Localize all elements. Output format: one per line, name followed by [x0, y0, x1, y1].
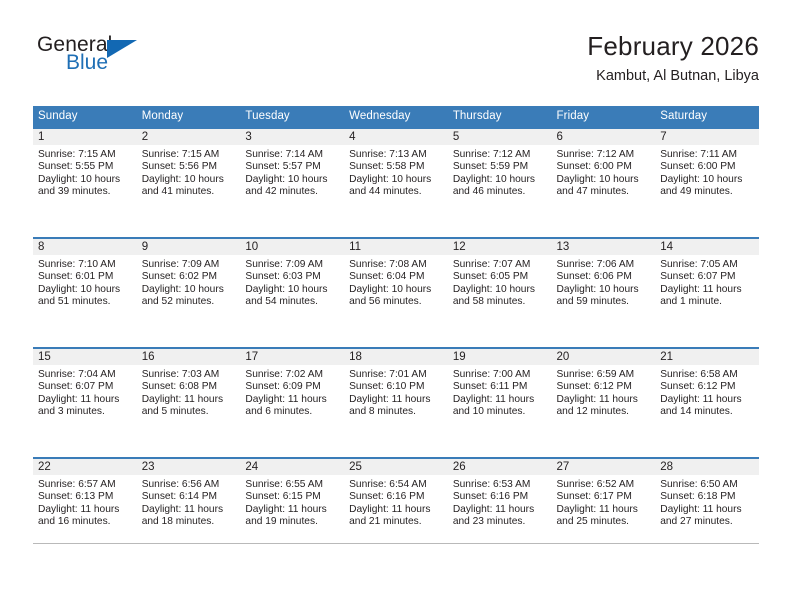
- daylight-text-line2: and 51 minutes.: [38, 296, 131, 308]
- daylight-text-line2: and 49 minutes.: [660, 186, 753, 198]
- day-number: 24: [240, 459, 344, 475]
- daylight-text-line1: Daylight: 11 hours: [453, 394, 546, 406]
- day-details: Sunrise: 7:01 AM Sunset: 6:10 PM Dayligh…: [344, 365, 448, 418]
- calendar-page: General Blue February 2026 Kambut, Al Bu…: [0, 0, 792, 612]
- daylight-text-line2: and 5 minutes.: [142, 406, 235, 418]
- weekday-header-saturday: Saturday: [655, 106, 759, 128]
- sunset-text: Sunset: 6:07 PM: [660, 271, 753, 283]
- sunrise-text: Sunrise: 7:13 AM: [349, 149, 442, 161]
- calendar-week-row: 8 Sunrise: 7:10 AM Sunset: 6:01 PM Dayli…: [33, 238, 759, 348]
- day-number: 11: [344, 239, 448, 255]
- calendar-week-row: 22 Sunrise: 6:57 AM Sunset: 6:13 PM Dayl…: [33, 458, 759, 567]
- day-cell[interactable]: 18 Sunrise: 7:01 AM Sunset: 6:10 PM Dayl…: [344, 348, 448, 458]
- daylight-text-line1: Daylight: 10 hours: [660, 174, 753, 186]
- day-cell[interactable]: 28 Sunrise: 6:50 AM Sunset: 6:18 PM Dayl…: [655, 458, 759, 567]
- daylight-text-line1: Daylight: 11 hours: [38, 504, 131, 516]
- sunrise-text: Sunrise: 6:53 AM: [453, 479, 546, 491]
- calendar-week-row: 1 Sunrise: 7:15 AM Sunset: 5:55 PM Dayli…: [33, 128, 759, 238]
- day-details: Sunrise: 7:15 AM Sunset: 5:55 PM Dayligh…: [33, 145, 137, 198]
- sunset-text: Sunset: 6:04 PM: [349, 271, 442, 283]
- sunrise-text: Sunrise: 6:59 AM: [557, 369, 650, 381]
- day-cell[interactable]: 5 Sunrise: 7:12 AM Sunset: 5:59 PM Dayli…: [448, 128, 552, 238]
- day-cell[interactable]: 23 Sunrise: 6:56 AM Sunset: 6:14 PM Dayl…: [137, 458, 241, 567]
- sunset-text: Sunset: 6:10 PM: [349, 381, 442, 393]
- sunrise-text: Sunrise: 7:14 AM: [245, 149, 338, 161]
- sunset-text: Sunset: 6:00 PM: [557, 161, 650, 173]
- day-cell[interactable]: 15 Sunrise: 7:04 AM Sunset: 6:07 PM Dayl…: [33, 348, 137, 458]
- daylight-text-line2: and 59 minutes.: [557, 296, 650, 308]
- daylight-text-line2: and 39 minutes.: [38, 186, 131, 198]
- day-cell[interactable]: 13 Sunrise: 7:06 AM Sunset: 6:06 PM Dayl…: [552, 238, 656, 348]
- daylight-text-line1: Daylight: 10 hours: [557, 284, 650, 296]
- daylight-text-line2: and 3 minutes.: [38, 406, 131, 418]
- calendar-grid: Sunday Monday Tuesday Wednesday Thursday…: [33, 106, 759, 567]
- sunrise-text: Sunrise: 7:11 AM: [660, 149, 753, 161]
- day-details: Sunrise: 7:00 AM Sunset: 6:11 PM Dayligh…: [448, 365, 552, 418]
- day-cell[interactable]: 16 Sunrise: 7:03 AM Sunset: 6:08 PM Dayl…: [137, 348, 241, 458]
- sunrise-text: Sunrise: 7:12 AM: [453, 149, 546, 161]
- day-details: Sunrise: 7:10 AM Sunset: 6:01 PM Dayligh…: [33, 255, 137, 308]
- day-details: Sunrise: 7:11 AM Sunset: 6:00 PM Dayligh…: [655, 145, 759, 198]
- day-details: Sunrise: 6:52 AM Sunset: 6:17 PM Dayligh…: [552, 475, 656, 528]
- day-details: Sunrise: 6:50 AM Sunset: 6:18 PM Dayligh…: [655, 475, 759, 528]
- calendar-week-row: 15 Sunrise: 7:04 AM Sunset: 6:07 PM Dayl…: [33, 348, 759, 458]
- day-number: 16: [137, 349, 241, 365]
- sunrise-text: Sunrise: 7:15 AM: [142, 149, 235, 161]
- sunset-text: Sunset: 6:16 PM: [349, 491, 442, 503]
- daylight-text-line1: Daylight: 10 hours: [453, 284, 546, 296]
- sunset-text: Sunset: 6:12 PM: [660, 381, 753, 393]
- sunset-text: Sunset: 5:57 PM: [245, 161, 338, 173]
- day-details: Sunrise: 7:07 AM Sunset: 6:05 PM Dayligh…: [448, 255, 552, 308]
- sunrise-text: Sunrise: 7:01 AM: [349, 369, 442, 381]
- day-number: 13: [552, 239, 656, 255]
- daylight-text-line1: Daylight: 10 hours: [453, 174, 546, 186]
- daylight-text-line1: Daylight: 11 hours: [38, 394, 131, 406]
- day-details: Sunrise: 7:06 AM Sunset: 6:06 PM Dayligh…: [552, 255, 656, 308]
- day-details: Sunrise: 6:54 AM Sunset: 6:16 PM Dayligh…: [344, 475, 448, 528]
- daylight-text-line2: and 19 minutes.: [245, 516, 338, 528]
- day-details: Sunrise: 6:55 AM Sunset: 6:15 PM Dayligh…: [240, 475, 344, 528]
- weekday-header-thursday: Thursday: [448, 106, 552, 128]
- day-number: 8: [33, 239, 137, 255]
- day-number: 23: [137, 459, 241, 475]
- daylight-text-line2: and 1 minute.: [660, 296, 753, 308]
- day-cell[interactable]: 1 Sunrise: 7:15 AM Sunset: 5:55 PM Dayli…: [33, 128, 137, 238]
- day-details: Sunrise: 7:03 AM Sunset: 6:08 PM Dayligh…: [137, 365, 241, 418]
- day-number: 12: [448, 239, 552, 255]
- day-details: Sunrise: 7:13 AM Sunset: 5:58 PM Dayligh…: [344, 145, 448, 198]
- day-cell[interactable]: 7 Sunrise: 7:11 AM Sunset: 6:00 PM Dayli…: [655, 128, 759, 238]
- sunset-text: Sunset: 5:59 PM: [453, 161, 546, 173]
- day-number: 26: [448, 459, 552, 475]
- sunrise-text: Sunrise: 6:57 AM: [38, 479, 131, 491]
- sunrise-text: Sunrise: 7:12 AM: [557, 149, 650, 161]
- sunset-text: Sunset: 5:55 PM: [38, 161, 131, 173]
- day-number: 9: [137, 239, 241, 255]
- daylight-text-line1: Daylight: 11 hours: [660, 394, 753, 406]
- day-cell[interactable]: 12 Sunrise: 7:07 AM Sunset: 6:05 PM Dayl…: [448, 238, 552, 348]
- page-header: General Blue February 2026 Kambut, Al Bu…: [33, 30, 759, 98]
- sunset-text: Sunset: 6:15 PM: [245, 491, 338, 503]
- sunset-text: Sunset: 6:01 PM: [38, 271, 131, 283]
- sunrise-text: Sunrise: 7:06 AM: [557, 259, 650, 271]
- daylight-text-line2: and 6 minutes.: [245, 406, 338, 418]
- sunrise-text: Sunrise: 7:04 AM: [38, 369, 131, 381]
- daylight-text-line2: and 16 minutes.: [38, 516, 131, 528]
- daylight-text-line1: Daylight: 10 hours: [557, 174, 650, 186]
- weekday-header-friday: Friday: [552, 106, 656, 128]
- daylight-text-line1: Daylight: 10 hours: [349, 284, 442, 296]
- day-number: 1: [33, 129, 137, 145]
- day-cell[interactable]: 8 Sunrise: 7:10 AM Sunset: 6:01 PM Dayli…: [33, 238, 137, 348]
- sunrise-text: Sunrise: 7:07 AM: [453, 259, 546, 271]
- day-number: 4: [344, 129, 448, 145]
- day-number: 22: [33, 459, 137, 475]
- day-number: 27: [552, 459, 656, 475]
- day-cell[interactable]: 2 Sunrise: 7:15 AM Sunset: 5:56 PM Dayli…: [137, 128, 241, 238]
- daylight-text-line2: and 41 minutes.: [142, 186, 235, 198]
- calendar-table: Sunday Monday Tuesday Wednesday Thursday…: [33, 106, 759, 567]
- day-cell[interactable]: 3 Sunrise: 7:14 AM Sunset: 5:57 PM Dayli…: [240, 128, 344, 238]
- day-cell[interactable]: 27 Sunrise: 6:52 AM Sunset: 6:17 PM Dayl…: [552, 458, 656, 567]
- daylight-text-line1: Daylight: 10 hours: [142, 284, 235, 296]
- day-cell[interactable]: 20 Sunrise: 6:59 AM Sunset: 6:12 PM Dayl…: [552, 348, 656, 458]
- sunset-text: Sunset: 6:13 PM: [38, 491, 131, 503]
- day-number: 5: [448, 129, 552, 145]
- generalblue-logo[interactable]: General Blue: [37, 34, 187, 90]
- sunset-text: Sunset: 6:14 PM: [142, 491, 235, 503]
- day-number: 3: [240, 129, 344, 145]
- daylight-text-line2: and 25 minutes.: [557, 516, 650, 528]
- sunset-text: Sunset: 6:05 PM: [453, 271, 546, 283]
- sunset-text: Sunset: 6:08 PM: [142, 381, 235, 393]
- sunrise-text: Sunrise: 6:58 AM: [660, 369, 753, 381]
- day-cell[interactable]: 17 Sunrise: 7:02 AM Sunset: 6:09 PM Dayl…: [240, 348, 344, 458]
- weekday-header-wednesday: Wednesday: [344, 106, 448, 128]
- daylight-text-line2: and 12 minutes.: [557, 406, 650, 418]
- day-details: Sunrise: 7:04 AM Sunset: 6:07 PM Dayligh…: [33, 365, 137, 418]
- calendar-body: 1 Sunrise: 7:15 AM Sunset: 5:55 PM Dayli…: [33, 128, 759, 567]
- sunrise-text: Sunrise: 7:00 AM: [453, 369, 546, 381]
- daylight-text-line2: and 47 minutes.: [557, 186, 650, 198]
- daylight-text-line1: Daylight: 10 hours: [245, 174, 338, 186]
- sunset-text: Sunset: 6:02 PM: [142, 271, 235, 283]
- day-details: Sunrise: 7:14 AM Sunset: 5:57 PM Dayligh…: [240, 145, 344, 198]
- sunrise-text: Sunrise: 7:10 AM: [38, 259, 131, 271]
- day-cell[interactable]: 4 Sunrise: 7:13 AM Sunset: 5:58 PM Dayli…: [344, 128, 448, 238]
- daylight-text-line1: Daylight: 11 hours: [142, 394, 235, 406]
- sunrise-text: Sunrise: 7:08 AM: [349, 259, 442, 271]
- day-details: Sunrise: 7:15 AM Sunset: 5:56 PM Dayligh…: [137, 145, 241, 198]
- weekday-header-sunday: Sunday: [33, 106, 137, 128]
- day-number: 20: [552, 349, 656, 365]
- daylight-text-line1: Daylight: 11 hours: [660, 284, 753, 296]
- daylight-text-line2: and 52 minutes.: [142, 296, 235, 308]
- weekday-header-tuesday: Tuesday: [240, 106, 344, 128]
- sunrise-text: Sunrise: 6:52 AM: [557, 479, 650, 491]
- day-cell[interactable]: 11 Sunrise: 7:08 AM Sunset: 6:04 PM Dayl…: [344, 238, 448, 348]
- day-number: 10: [240, 239, 344, 255]
- daylight-text-line1: Daylight: 10 hours: [38, 174, 131, 186]
- day-details: Sunrise: 7:08 AM Sunset: 6:04 PM Dayligh…: [344, 255, 448, 308]
- sunrise-text: Sunrise: 7:03 AM: [142, 369, 235, 381]
- daylight-text-line1: Daylight: 11 hours: [557, 394, 650, 406]
- day-details: Sunrise: 7:02 AM Sunset: 6:09 PM Dayligh…: [240, 365, 344, 418]
- daylight-text-line1: Daylight: 10 hours: [142, 174, 235, 186]
- sunset-text: Sunset: 6:00 PM: [660, 161, 753, 173]
- day-cell[interactable]: 24 Sunrise: 6:55 AM Sunset: 6:15 PM Dayl…: [240, 458, 344, 567]
- day-cell[interactable]: 19 Sunrise: 7:00 AM Sunset: 6:11 PM Dayl…: [448, 348, 552, 458]
- daylight-text-line2: and 56 minutes.: [349, 296, 442, 308]
- sunrise-text: Sunrise: 6:54 AM: [349, 479, 442, 491]
- sunrise-text: Sunrise: 7:05 AM: [660, 259, 753, 271]
- day-cell[interactable]: 6 Sunrise: 7:12 AM Sunset: 6:00 PM Dayli…: [552, 128, 656, 238]
- page-title: February 2026: [587, 30, 759, 62]
- daylight-text-line1: Daylight: 11 hours: [660, 504, 753, 516]
- sunset-text: Sunset: 6:17 PM: [557, 491, 650, 503]
- sunrise-text: Sunrise: 6:55 AM: [245, 479, 338, 491]
- day-cell[interactable]: 21 Sunrise: 6:58 AM Sunset: 6:12 PM Dayl…: [655, 348, 759, 458]
- sunset-text: Sunset: 6:03 PM: [245, 271, 338, 283]
- day-cell[interactable]: 9 Sunrise: 7:09 AM Sunset: 6:02 PM Dayli…: [137, 238, 241, 348]
- daylight-text-line1: Daylight: 11 hours: [453, 504, 546, 516]
- day-number: 2: [137, 129, 241, 145]
- daylight-text-line2: and 27 minutes.: [660, 516, 753, 528]
- daylight-text-line2: and 58 minutes.: [453, 296, 546, 308]
- daylight-text-line2: and 10 minutes.: [453, 406, 546, 418]
- sunrise-text: Sunrise: 7:09 AM: [245, 259, 338, 271]
- daylight-text-line1: Daylight: 11 hours: [349, 394, 442, 406]
- sunset-text: Sunset: 5:56 PM: [142, 161, 235, 173]
- daylight-text-line1: Daylight: 10 hours: [349, 174, 442, 186]
- daylight-text-line2: and 44 minutes.: [349, 186, 442, 198]
- daylight-text-line2: and 18 minutes.: [142, 516, 235, 528]
- day-number: 7: [655, 129, 759, 145]
- sunset-text: Sunset: 6:18 PM: [660, 491, 753, 503]
- calendar-bottom-rule: [33, 543, 759, 544]
- daylight-text-line1: Daylight: 11 hours: [557, 504, 650, 516]
- day-details: Sunrise: 6:56 AM Sunset: 6:14 PM Dayligh…: [137, 475, 241, 528]
- day-details: Sunrise: 7:12 AM Sunset: 5:59 PM Dayligh…: [448, 145, 552, 198]
- day-details: Sunrise: 7:12 AM Sunset: 6:00 PM Dayligh…: [552, 145, 656, 198]
- sunrise-text: Sunrise: 7:02 AM: [245, 369, 338, 381]
- sunset-text: Sunset: 6:12 PM: [557, 381, 650, 393]
- daylight-text-line2: and 8 minutes.: [349, 406, 442, 418]
- daylight-text-line2: and 23 minutes.: [453, 516, 546, 528]
- day-details: Sunrise: 7:09 AM Sunset: 6:02 PM Dayligh…: [137, 255, 241, 308]
- day-number: 28: [655, 459, 759, 475]
- daylight-text-line2: and 42 minutes.: [245, 186, 338, 198]
- sunset-text: Sunset: 6:07 PM: [38, 381, 131, 393]
- day-details: Sunrise: 7:05 AM Sunset: 6:07 PM Dayligh…: [655, 255, 759, 308]
- day-number: 21: [655, 349, 759, 365]
- day-number: 25: [344, 459, 448, 475]
- daylight-text-line2: and 54 minutes.: [245, 296, 338, 308]
- day-cell[interactable]: 25 Sunrise: 6:54 AM Sunset: 6:16 PM Dayl…: [344, 458, 448, 567]
- daylight-text-line1: Daylight: 11 hours: [349, 504, 442, 516]
- day-number: 14: [655, 239, 759, 255]
- day-details: Sunrise: 7:09 AM Sunset: 6:03 PM Dayligh…: [240, 255, 344, 308]
- weekday-header-monday: Monday: [137, 106, 241, 128]
- day-cell[interactable]: 14 Sunrise: 7:05 AM Sunset: 6:07 PM Dayl…: [655, 238, 759, 348]
- page-subtitle: Kambut, Al Butnan, Libya: [587, 67, 759, 85]
- sunset-text: Sunset: 6:06 PM: [557, 271, 650, 283]
- day-details: Sunrise: 6:58 AM Sunset: 6:12 PM Dayligh…: [655, 365, 759, 418]
- daylight-text-line1: Daylight: 11 hours: [245, 504, 338, 516]
- day-details: Sunrise: 6:57 AM Sunset: 6:13 PM Dayligh…: [33, 475, 137, 528]
- day-cell[interactable]: 10 Sunrise: 7:09 AM Sunset: 6:03 PM Dayl…: [240, 238, 344, 348]
- calendar-header-row: Sunday Monday Tuesday Wednesday Thursday…: [33, 106, 759, 128]
- day-number: 17: [240, 349, 344, 365]
- daylight-text-line2: and 21 minutes.: [349, 516, 442, 528]
- day-cell[interactable]: 22 Sunrise: 6:57 AM Sunset: 6:13 PM Dayl…: [33, 458, 137, 567]
- sunrise-text: Sunrise: 6:56 AM: [142, 479, 235, 491]
- day-details: Sunrise: 6:59 AM Sunset: 6:12 PM Dayligh…: [552, 365, 656, 418]
- day-number: 18: [344, 349, 448, 365]
- day-number: 6: [552, 129, 656, 145]
- daylight-text-line2: and 46 minutes.: [453, 186, 546, 198]
- day-cell[interactable]: 26 Sunrise: 6:53 AM Sunset: 6:16 PM Dayl…: [448, 458, 552, 567]
- daylight-text-line1: Daylight: 10 hours: [245, 284, 338, 296]
- day-number: 19: [448, 349, 552, 365]
- sunrise-text: Sunrise: 7:15 AM: [38, 149, 131, 161]
- day-number: 15: [33, 349, 137, 365]
- logo-triangle-icon: [107, 40, 137, 58]
- sunrise-text: Sunrise: 7:09 AM: [142, 259, 235, 271]
- daylight-text-line1: Daylight: 10 hours: [38, 284, 131, 296]
- daylight-text-line1: Daylight: 11 hours: [142, 504, 235, 516]
- day-details: Sunrise: 6:53 AM Sunset: 6:16 PM Dayligh…: [448, 475, 552, 528]
- title-block: February 2026 Kambut, Al Butnan, Libya: [587, 30, 759, 85]
- sunset-text: Sunset: 6:16 PM: [453, 491, 546, 503]
- daylight-text-line2: and 14 minutes.: [660, 406, 753, 418]
- sunrise-text: Sunrise: 6:50 AM: [660, 479, 753, 491]
- daylight-text-line1: Daylight: 11 hours: [245, 394, 338, 406]
- sunset-text: Sunset: 6:11 PM: [453, 381, 546, 393]
- sunset-text: Sunset: 6:09 PM: [245, 381, 338, 393]
- sunset-text: Sunset: 5:58 PM: [349, 161, 442, 173]
